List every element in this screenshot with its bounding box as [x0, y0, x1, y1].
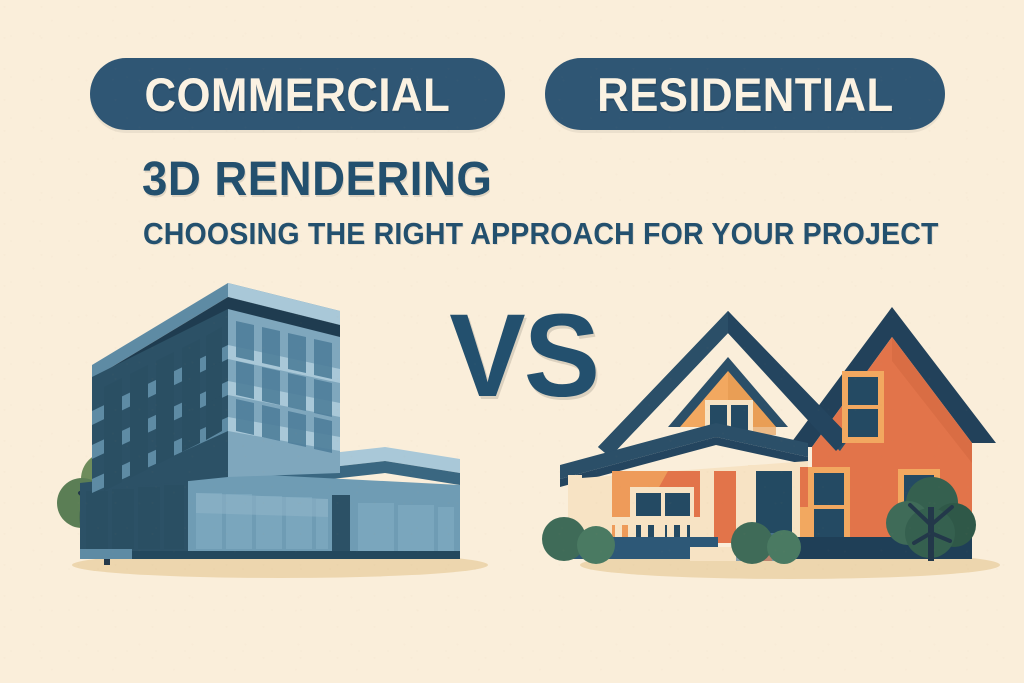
porch-post-mid [700, 471, 714, 543]
page-title: 3D RENDERING [142, 152, 492, 207]
badge-residential[interactable]: RESIDENTIAL [545, 58, 945, 130]
infographic-canvas: COMMERCIAL RESIDENTIAL 3D RENDERING CHOO… [0, 0, 1024, 683]
commercial-building-illustration [40, 265, 500, 585]
page-subtitle: CHOOSING THE RIGHT APPROACH FOR YOUR PRO… [143, 216, 939, 252]
residential-house-illustration [540, 275, 1000, 590]
badge-commercial[interactable]: COMMERCIAL [90, 58, 505, 130]
building-base [80, 551, 460, 559]
versus-divider-label: VS [449, 297, 598, 415]
badge-commercial-label: COMMERCIAL [145, 67, 451, 122]
badge-residential-label: RESIDENTIAL [597, 67, 894, 122]
